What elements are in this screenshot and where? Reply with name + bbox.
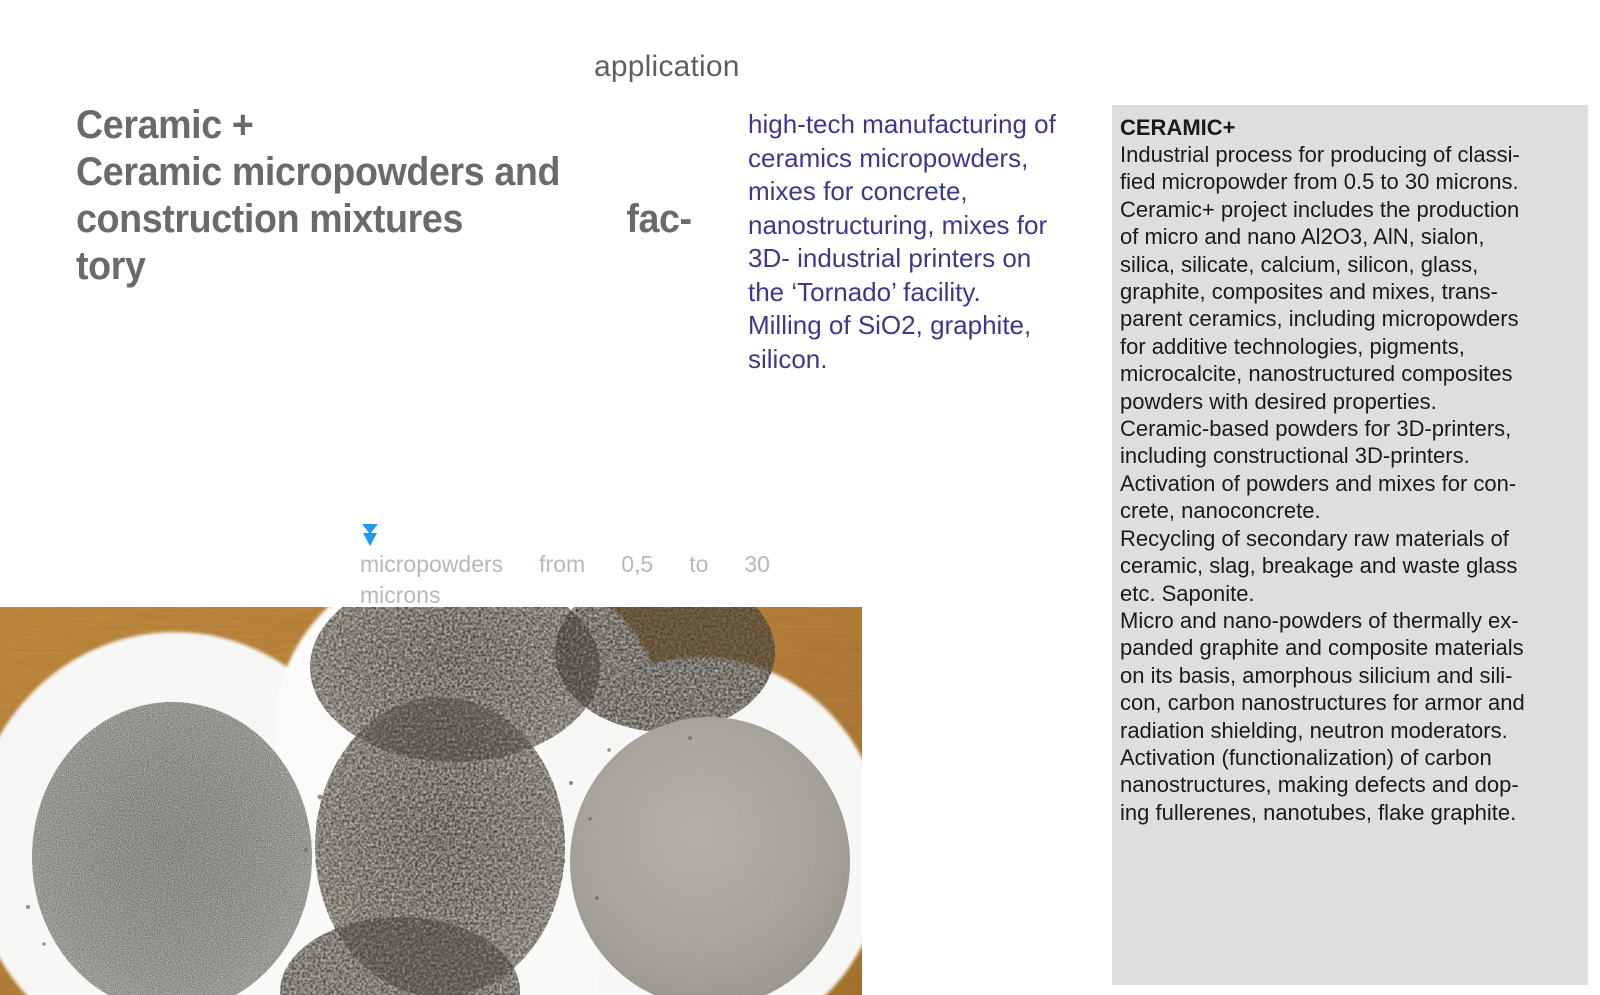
- info-line: Activation (functionalization) of carbon: [1120, 744, 1582, 771]
- info-line: powders with desired properties.: [1120, 388, 1582, 415]
- info-line: nanostructures, making defects and dop-: [1120, 771, 1582, 798]
- page-title-line-4: tory: [76, 243, 696, 290]
- photo-caption-line-1: micropowders from 0,5 to 30: [360, 549, 770, 580]
- description-line: ceramics micropowders,: [748, 142, 1100, 176]
- description-line: mixes for concrete,: [748, 175, 1100, 209]
- caption-word: 30: [744, 549, 770, 580]
- caption-word: to: [689, 549, 708, 580]
- info-line: fied micropowder from 0.5 to 30 microns.: [1120, 168, 1582, 195]
- info-line: of micro and nano Al2O3, AlN, sialon,: [1120, 223, 1582, 250]
- description-line: nanostructuring, mixes for: [748, 209, 1100, 243]
- info-line: Ceramic-based powders for 3D-printers,: [1120, 415, 1582, 442]
- info-line: silica, silicate, calcium, silicon, glas…: [1120, 251, 1582, 278]
- page-title-line-2: Ceramic micropowders and: [76, 149, 696, 196]
- photo-caption-text: micropowders from 0,5 to 30 microns: [360, 549, 800, 611]
- info-line: for additive technologies, pigments,: [1120, 333, 1582, 360]
- caption-word: micropowders: [360, 549, 503, 580]
- info-line: Industrial process for producing of clas…: [1120, 141, 1582, 168]
- description-line: silicon.: [748, 343, 1100, 377]
- info-line: con, carbon nanostructures for armor and: [1120, 689, 1582, 716]
- page-title-line-3: construction mixtures fac-: [76, 196, 692, 243]
- info-line: Activation of powders and mixes for con-: [1120, 470, 1582, 497]
- info-line: Ceramic+ project includes the production: [1120, 196, 1582, 223]
- page-title-line-1: Ceramic +: [76, 102, 696, 149]
- page-title: Ceramic + Ceramic micropowders and const…: [76, 102, 696, 290]
- info-line: crete, nanoconcrete.: [1120, 497, 1582, 524]
- info-line: microcalcite, nanostructured composites: [1120, 360, 1582, 387]
- info-line: graphite, composites and mixes, trans-: [1120, 278, 1582, 305]
- info-panel-body: Industrial process for producing of clas…: [1120, 141, 1582, 826]
- info-line: radiation shielding, neutron moderators.: [1120, 717, 1582, 744]
- info-line: Recycling of secondary raw materials of: [1120, 525, 1582, 552]
- info-line: parent ceramics, including micropowders: [1120, 305, 1582, 332]
- caption-word: from: [539, 549, 585, 580]
- description-line: the ‘Tornado’ facility.: [748, 276, 1100, 310]
- page-title-line-3-right: fac-: [626, 196, 691, 243]
- info-line: on its basis, amorphous silicium and sil…: [1120, 662, 1582, 689]
- double-chevron-down-icon: [360, 522, 380, 550]
- info-line: Micro and nano-powders of thermally ex-: [1120, 607, 1582, 634]
- info-panel-title: CERAMIC+: [1120, 114, 1582, 141]
- info-line: ing fullerenes, nanotubes, flake graphit…: [1120, 799, 1582, 826]
- description-line: Milling of SiO2, graphite,: [748, 309, 1100, 343]
- ceramic-plus-info-panel: CERAMIC+ Industrial process for producin…: [1112, 105, 1588, 985]
- page-title-line-3-left: construction mixtures: [76, 196, 463, 243]
- info-line: etc. Saponite.: [1120, 580, 1582, 607]
- caption-word: 0,5: [621, 549, 653, 580]
- info-line: including constructional 3D-printers.: [1120, 442, 1582, 469]
- ceramic-micropowder-samples-photo: [0, 607, 862, 995]
- description-line: high-tech manufacturing of: [748, 108, 1100, 142]
- photo-caption: micropowders from 0,5 to 30 microns: [360, 518, 800, 611]
- info-line: panded graphite and composite materials: [1120, 634, 1582, 661]
- description-line: 3D- industrial printers on: [748, 242, 1100, 276]
- application-description: high-tech manufacturing of ceramics micr…: [748, 108, 1100, 376]
- section-heading: application: [594, 50, 740, 84]
- info-line: ceramic, slag, breakage and waste glass: [1120, 552, 1582, 579]
